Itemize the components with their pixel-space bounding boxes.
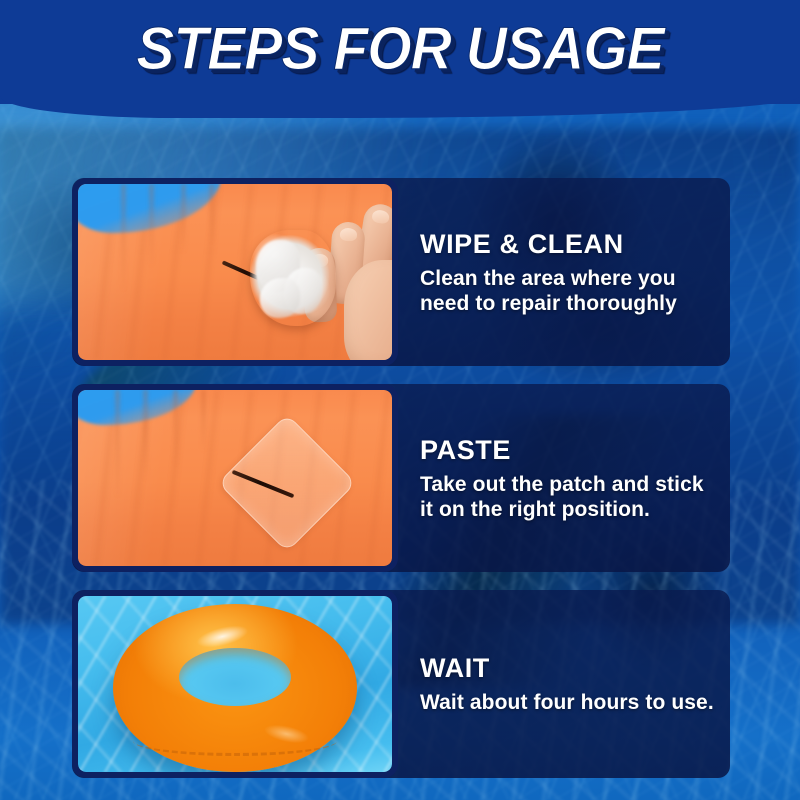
white-tissue bbox=[250, 230, 336, 326]
photo-inner bbox=[78, 390, 392, 566]
fabric-crease bbox=[174, 390, 177, 467]
step-photo-paste bbox=[72, 384, 398, 572]
fabric-crease bbox=[116, 390, 119, 499]
step-row-wipe-clean: WIPE & CLEAN Clean the area where you ne… bbox=[0, 178, 800, 366]
tissue-fold bbox=[260, 278, 300, 318]
step-photo-wipe-clean bbox=[72, 178, 398, 366]
photo-inner bbox=[78, 596, 392, 772]
step-text-block: PASTE Take out the patch and stick it on… bbox=[420, 384, 720, 572]
fabric-crease bbox=[122, 184, 125, 293]
step-text-block: WIPE & CLEAN Clean the area where you ne… bbox=[420, 178, 720, 366]
steps-list: WIPE & CLEAN Clean the area where you ne… bbox=[0, 178, 800, 796]
fabric-crease bbox=[150, 184, 153, 268]
fabric-crease bbox=[202, 390, 205, 453]
fingernail bbox=[340, 227, 358, 241]
step-body: Clean the area where you need to repair … bbox=[420, 266, 714, 316]
photo-inner bbox=[78, 184, 392, 360]
step-body: Take out the patch and stick it on the r… bbox=[420, 472, 714, 522]
step-row-wait: WAIT Wait about four hours to use. bbox=[0, 590, 800, 778]
fingernail bbox=[371, 209, 390, 224]
steps-for-usage-infographic: STEPS FOR USAGE bbox=[0, 0, 800, 800]
page-title: STEPS FOR USAGE bbox=[20, 14, 780, 84]
step-heading: PASTE bbox=[420, 435, 714, 465]
orange-swim-ring bbox=[113, 604, 357, 772]
step-heading: WAIT bbox=[420, 653, 714, 683]
swim-ring-hole bbox=[179, 648, 291, 706]
step-body: Wait about four hours to use. bbox=[420, 690, 714, 715]
fabric-crease bbox=[182, 184, 185, 254]
step-heading: WIPE & CLEAN bbox=[420, 229, 714, 259]
fabric-crease bbox=[210, 184, 213, 244]
step-text-block: WAIT Wait about four hours to use. bbox=[420, 590, 720, 778]
step-row-paste: PASTE Take out the patch and stick it on… bbox=[0, 384, 800, 572]
fabric-crease bbox=[144, 390, 147, 482]
step-photo-wait bbox=[72, 590, 398, 778]
